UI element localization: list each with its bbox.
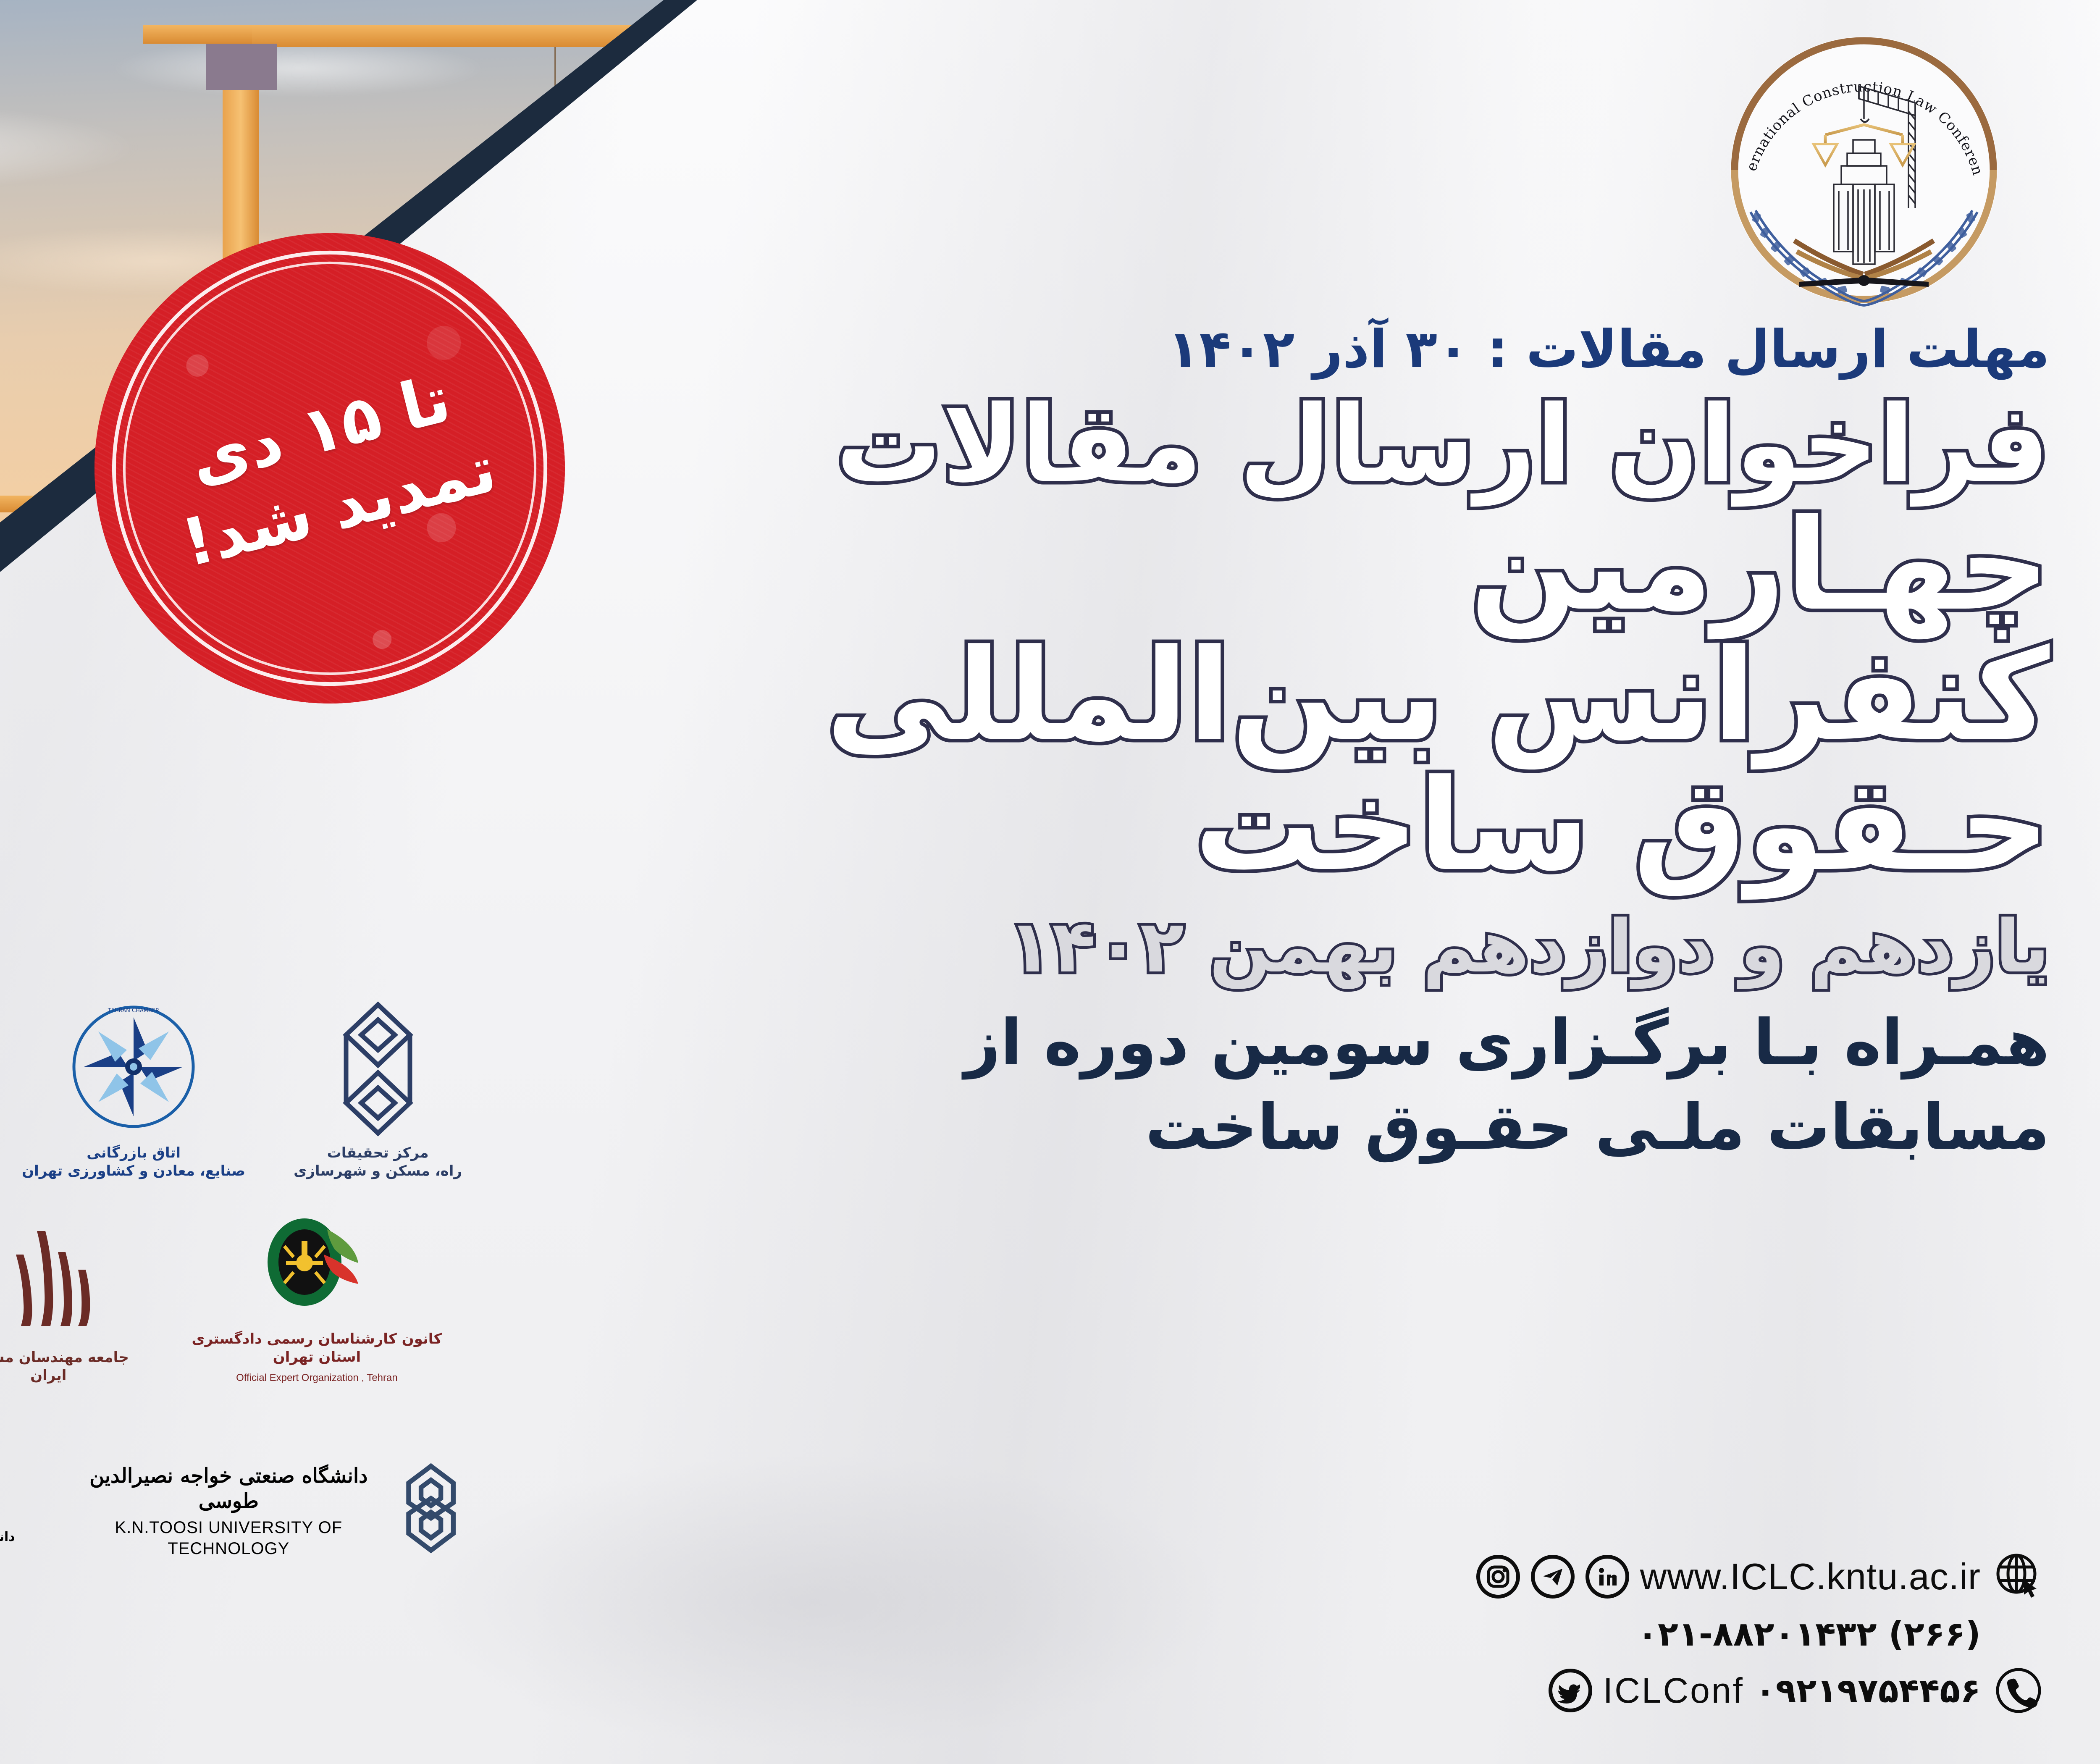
website-url[interactable]: www.ICLC.kntu.ac.ir: [1640, 1555, 1981, 1598]
sponsor-kntu: دانشگاه صنعتی خواجه نصیرالدین طوسی K.N.T…: [74, 1456, 462, 1561]
globe-icon: [1992, 1550, 2045, 1604]
contact-row-mobile: ICLConf ۰۹۲۱۹۷۵۴۴۵۶: [1205, 1664, 2045, 1717]
sponsor-caption-en: K.N.TOOSI UNIVERSITY OF TECHNOLOGY: [74, 1517, 383, 1559]
conference-poster: ISC Islamic World Science Citation Cente…: [0, 0, 2100, 1764]
contact-row-phone: ۰۲۱-۸۸۲۰۱۴۳۲ (۲۶۶): [1205, 1614, 2045, 1654]
twitter-handle[interactable]: ICLConf: [1603, 1670, 1744, 1711]
sponsor-caption-en: Official Expert Organization , Tehran: [236, 1372, 398, 1384]
headline-international-conference: کنفرانس بین‌المللی: [554, 631, 2050, 760]
sponsor-row-1: مرکز تحقیقات راه، مسکن و شهرسازی TEHRAN …: [0, 1000, 462, 1180]
sponsor-road-housing-research-center: مرکز تحقیقات راه، مسکن و شهرسازی: [294, 1000, 462, 1180]
sponsor-row-2: کانون کارشناسان رسمی دادگستری استان تهرا…: [0, 1211, 462, 1384]
conference-logo: International Construction Law Conferenc…: [1725, 31, 2003, 309]
headline-call-for-papers: فراخوان ارسال مقالات: [554, 391, 2050, 499]
subtitle-line-1: همـراه بـا برگـزاری سومین دوره از: [554, 1002, 2050, 1084]
linkedin-icon[interactable]: [1585, 1555, 1629, 1599]
sponsor-iranian-consulting-engineers: جامعه مهندسان مشاور ایران: [0, 1229, 134, 1384]
iranian-consulting-engineers-association-icon: [0, 1229, 101, 1343]
sponsor-tehran-chamber-of-commerce: TEHRAN CHAMBER اتاق بازرگانی صنایع، معاد…: [22, 1000, 245, 1180]
submission-deadline: مهلت ارسال مقالات : ۳۰ آذر ۱۴۰۲: [554, 319, 2050, 380]
sponsor-official-expert-organization-tehran: کانون کارشناسان رسمی دادگستری استان تهرا…: [172, 1211, 462, 1384]
phone-icon: [1992, 1664, 2045, 1717]
event-dateline: یازدهم و دوازدهم بهمن ۱۴۰۲: [554, 904, 2050, 989]
sponsor-caption: کانون کارشناسان رسمی دادگستری استان تهرا…: [172, 1330, 462, 1366]
headline-block: مهلت ارسال مقالات : ۳۰ آذر ۱۴۰۲ فراخوان …: [554, 319, 2050, 1168]
svg-text:TEHRAN CHAMBER: TEHRAN CHAMBER: [108, 1008, 159, 1014]
headline-construction-law: حـقوق ساخت: [554, 761, 2050, 890]
instagram-icon[interactable]: [1476, 1555, 1520, 1599]
sponsor-logos: مرکز تحقیقات راه، مسکن و شهرسازی TEHRAN …: [0, 1000, 462, 1561]
road-housing-research-center-icon: [332, 1000, 424, 1138]
subtitle-line-2: مسابقات ملـی حقـوق ساخت: [554, 1087, 2050, 1168]
sponsor-caption: اتاق بازرگانی صنایع، معادن و کشاورزی تهر…: [22, 1144, 245, 1180]
sponsor-caption: دانشگاه آزاد اسلامی واحد علوم و تحقیقات: [0, 1529, 28, 1561]
telegram-icon[interactable]: [1531, 1555, 1575, 1599]
mobile-number[interactable]: ۰۹۲۱۹۷۵۴۴۵۶: [1755, 1671, 1981, 1710]
contact-row-website: www.ICLC.kntu.ac.ir: [1205, 1550, 2045, 1604]
official-expert-organization-tehran-icon: [264, 1211, 369, 1324]
contact-block: www.ICLC.kntu.ac.ir ۰۲۱-۸۸۲۰۱۴۳۲ (۲۶۶) I…: [1205, 1550, 2045, 1717]
phone-number[interactable]: ۰۲۱-۸۸۲۰۱۴۳۲ (۲۶۶): [1637, 1614, 1981, 1654]
sponsor-row-3: دانشگاه صنعتی خواجه نصیرالدین طوسی K.N.T…: [0, 1420, 462, 1561]
sponsor-caption: دانشگاه صنعتی خواجه نصیرالدین طوسی: [74, 1463, 383, 1514]
tehran-chamber-of-commerce-icon: TEHRAN CHAMBER: [71, 1000, 197, 1138]
sponsor-caption: جامعه مهندسان مشاور ایران: [0, 1349, 134, 1384]
twitter-icon[interactable]: [1549, 1669, 1592, 1712]
headline-fourth: چهـارمین: [554, 501, 2050, 630]
sponsor-caption: مرکز تحقیقات راه، مسکن و شهرسازی: [294, 1144, 462, 1180]
sponsor-azad-science-research: دانشگاه آزاد اسلامی واحد علوم و تحقیقات: [0, 1427, 28, 1561]
kntu-icon: [400, 1456, 462, 1561]
